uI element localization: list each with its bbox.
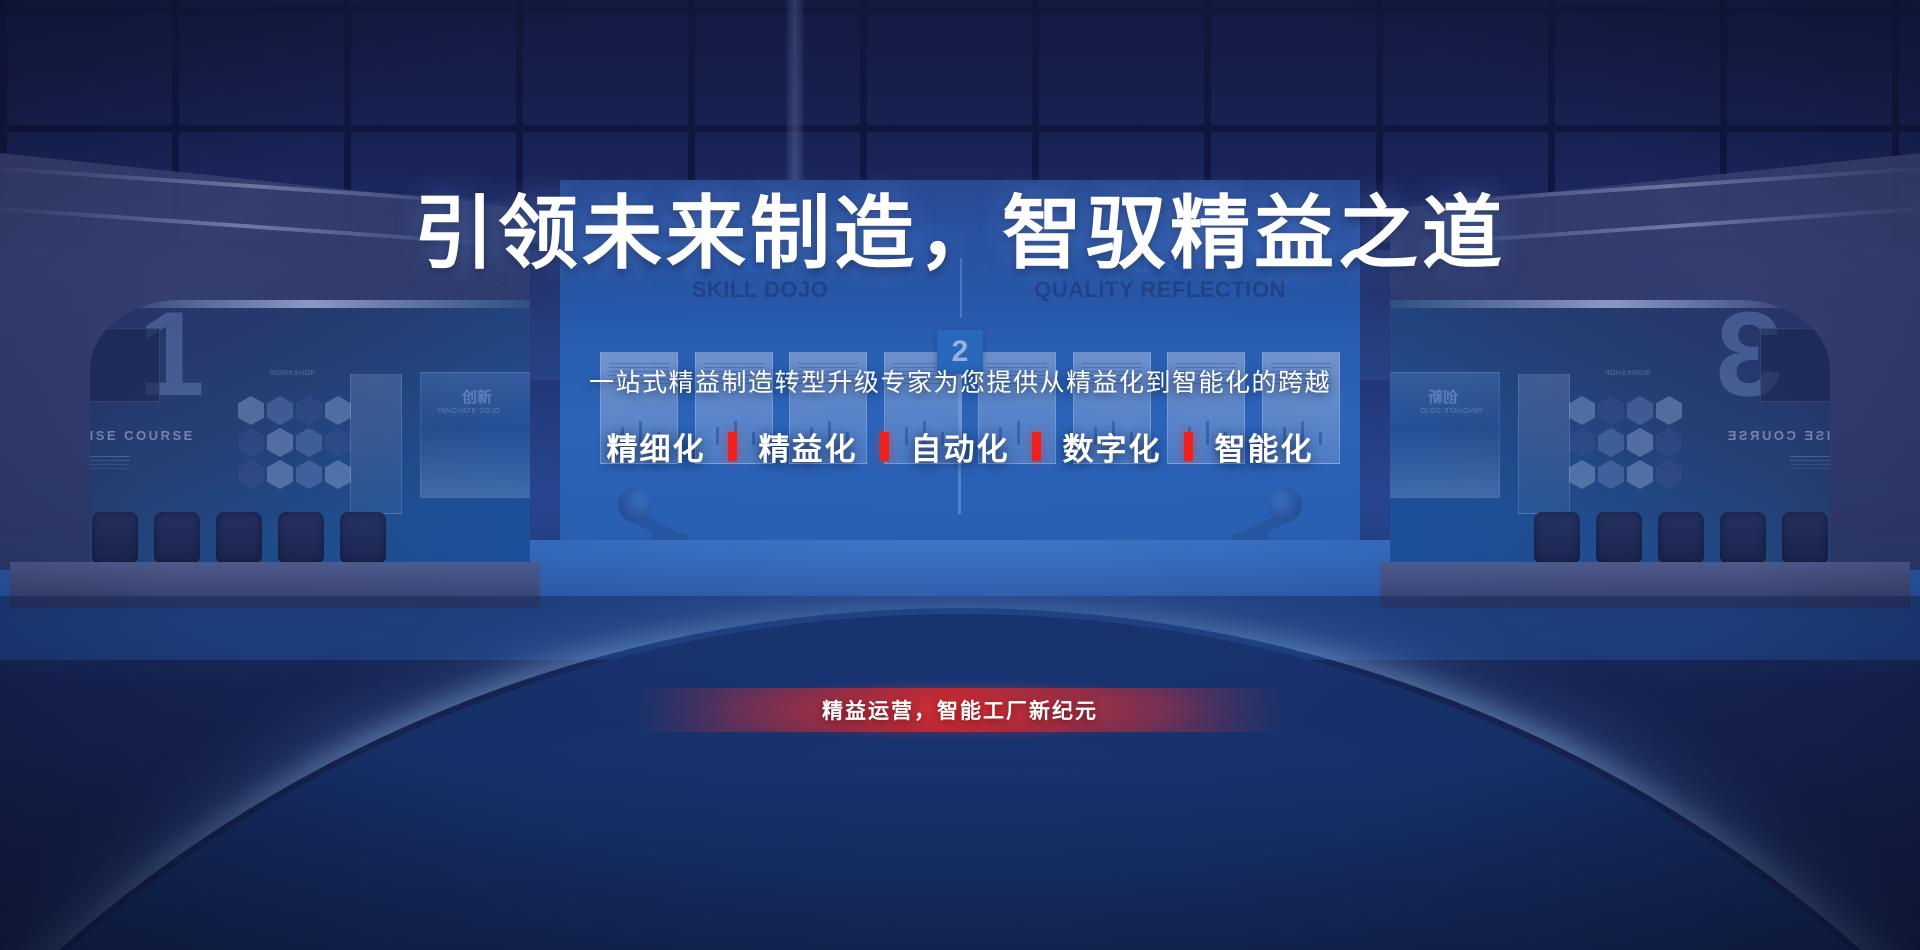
keyword-separator-icon [880, 432, 889, 461]
keyword-item-2: 精益化 [759, 424, 858, 469]
keyword-separator-icon [728, 432, 737, 461]
keyword-item-4: 数字化 [1063, 424, 1162, 469]
keyword-separator-icon [1184, 432, 1193, 461]
keyword-item-1: 精细化 [607, 424, 706, 469]
hero-banner: 技能道场 SKILL DOJO 质量反省 QUALITY REFLECTION … [0, 0, 1920, 950]
keyword-item-3: 自动化 [911, 424, 1010, 469]
keyword-separator-icon [1032, 432, 1041, 461]
tagline-banner: 精益运营，智能工厂新纪元 [635, 688, 1285, 732]
tagline-text: 精益运营，智能工厂新纪元 [822, 695, 1098, 725]
banner-subtitle: 一站式精益制造转型升级专家为您提供从精益化到智能化的跨越 [0, 363, 1920, 399]
keyword-row: 精细化 精益化 自动化 数字化 智能化 [0, 424, 1920, 469]
banner-title: 引领未来制造，智驭精益之道 [0, 194, 1920, 274]
banner-copy-layer: 引领未来制造，智驭精益之道 一站式精益制造转型升级专家为您提供从精益化到智能化的… [0, 0, 1920, 950]
keyword-item-5: 智能化 [1215, 424, 1314, 469]
